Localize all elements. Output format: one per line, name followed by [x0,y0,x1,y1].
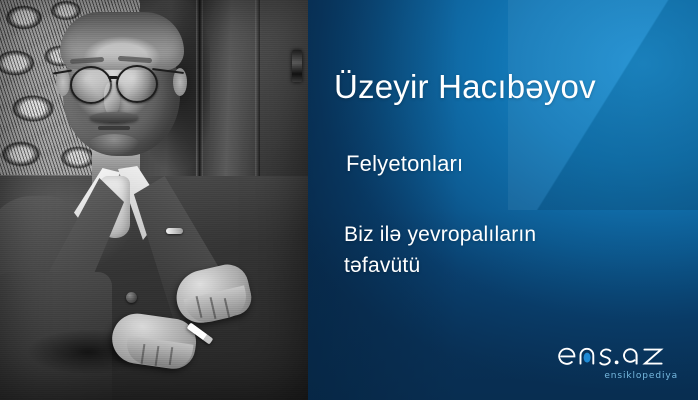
description: Biz ilə yevropalıların təfavütü [344,219,674,281]
mustache [90,112,138,123]
portrait-photo [0,0,308,400]
mouth [98,126,130,130]
description-line-2: təfavütü [344,250,674,281]
subtitle: Felyetonları [346,151,463,177]
ens-az-logo[interactable]: ensiklopediya [558,338,680,382]
page-title: Üzeyir Hacıbəyov [334,68,596,106]
logo-dot-separator [615,361,619,365]
logo-tagline: ensiklopediya [604,371,678,381]
nose [104,82,120,116]
logo-n-dot [584,353,591,363]
lapel-pin [166,228,183,234]
eyeglass-lens-right [116,65,158,103]
door-latch [292,50,302,82]
eyeglass-bridge [108,76,118,79]
chin [88,134,140,156]
title-panel: Üzeyir Hacıbəyov Felyetonları Biz ilə ye… [308,0,698,400]
jacket-button [126,292,137,303]
ens-az-wordmark-icon [558,338,680,370]
slide-canvas: Üzeyir Hacıbəyov Felyetonları Biz ilə ye… [0,0,698,400]
description-line-1: Biz ilə yevropalıların [344,219,674,250]
wood-seam-secondary [255,0,260,200]
